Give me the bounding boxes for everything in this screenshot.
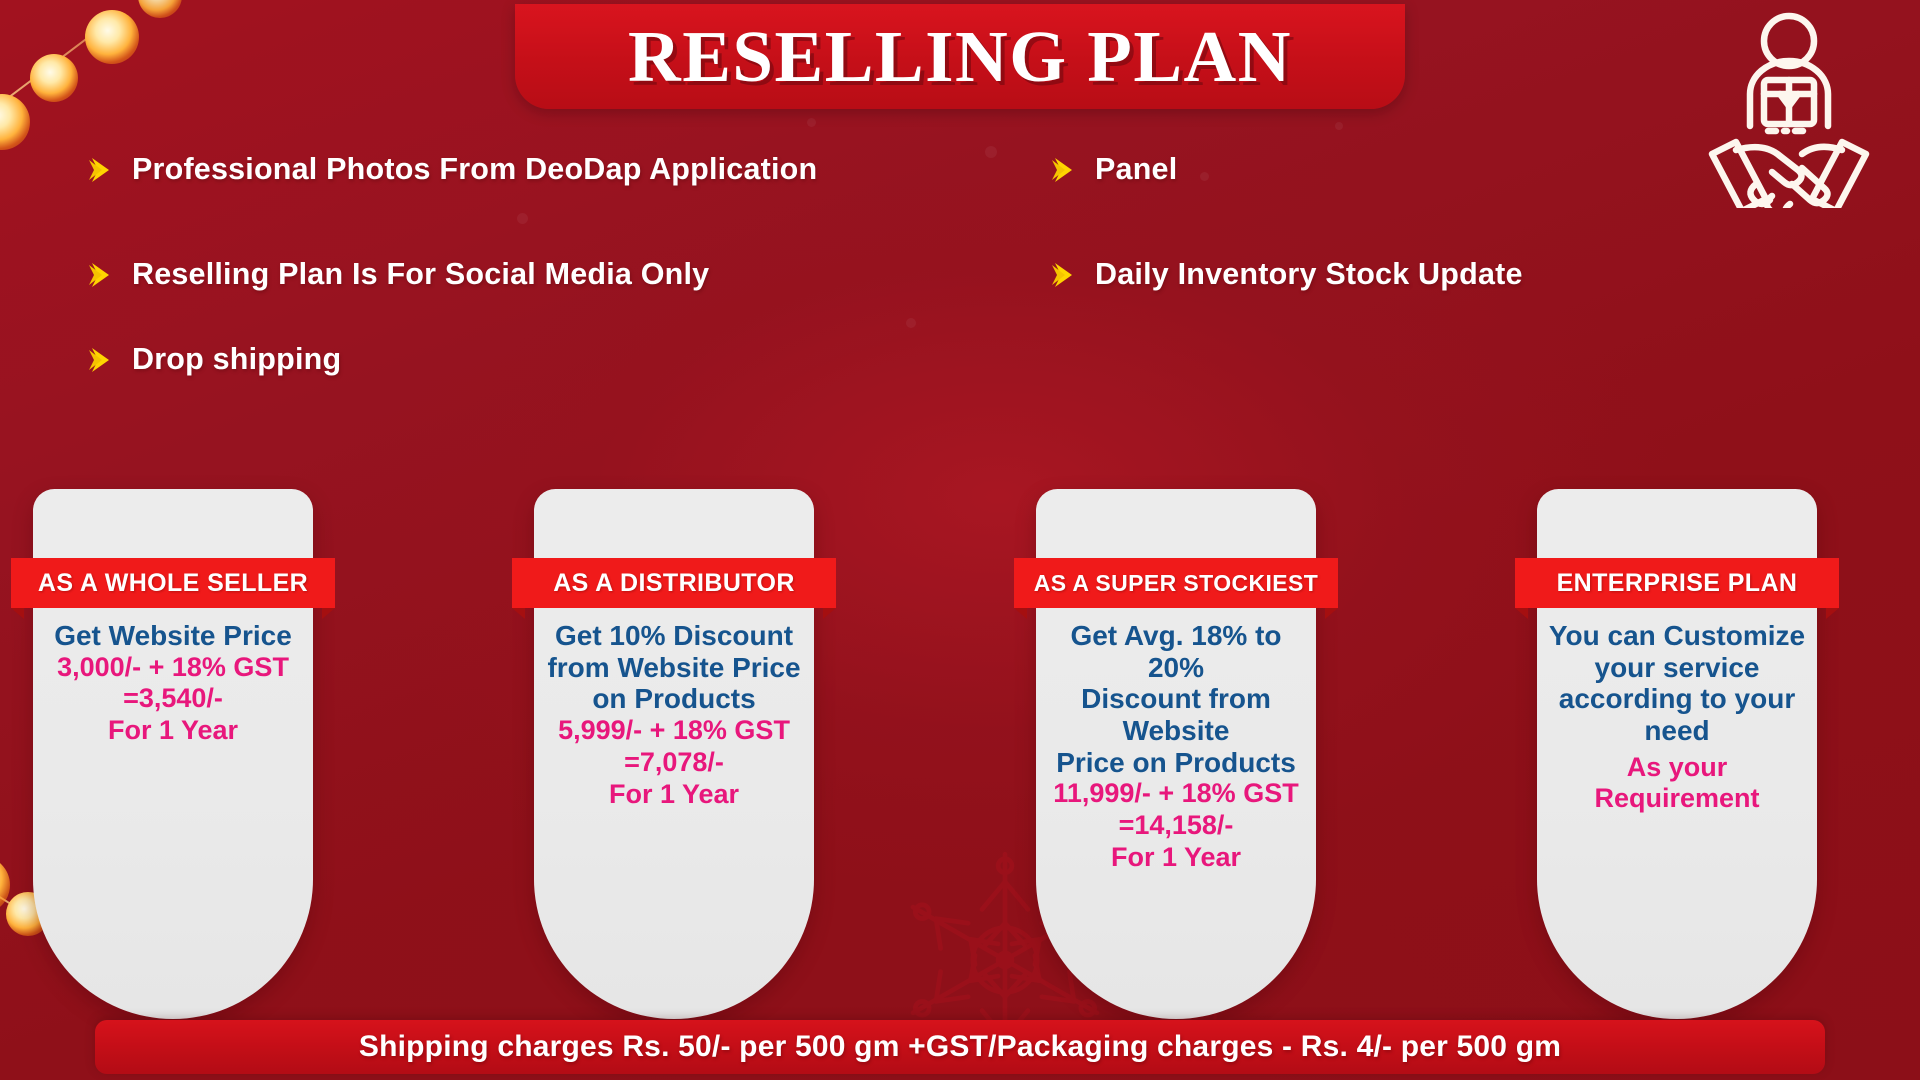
chevron-right-icon <box>1051 260 1081 295</box>
plan-ribbon: ENTERPRISE PLAN <box>1515 558 1839 608</box>
feature-label: Reselling Plan Is For Social Media Only <box>132 255 709 294</box>
bokeh-dot <box>807 118 816 127</box>
page-title: RESELLING PLAN <box>628 20 1292 93</box>
plan-ribbon-label: AS A SUPER STOCKIEST <box>1034 570 1318 597</box>
plan-details: Get 10% Discount from Website Price on P… <box>544 620 804 810</box>
page-title-banner: RESELLING PLAN <box>515 4 1405 109</box>
feature-label: Panel <box>1095 150 1177 189</box>
plan-blue-line: Price on Products <box>1046 747 1306 779</box>
footer-bar: Shipping charges Rs. 50/- per 500 gm +GS… <box>95 1020 1825 1074</box>
plan-cards: AS A WHOLE SELLER Get Website Price 3,00… <box>0 489 1920 1049</box>
plan-blue-line: need <box>1547 715 1807 747</box>
plan-blue-line: Discount from <box>1046 683 1306 715</box>
feature-item: Professional Photos From DeoDap Applicat… <box>88 150 828 190</box>
plan-blue-line: Get 10% Discount <box>544 620 804 652</box>
chevron-right-icon <box>88 260 118 295</box>
feature-item: Daily Inventory Stock Update <box>1051 255 1791 295</box>
plan-ribbon-label: ENTERPRISE PLAN <box>1557 569 1798 598</box>
plan-pink-line: =14,158/- <box>1046 810 1306 842</box>
plan-blue-line: your service <box>1547 652 1807 684</box>
bokeh-dot <box>517 213 528 224</box>
plan-pink-line: 11,999/- + 18% GST <box>1046 778 1306 810</box>
plan-details: Get Website Price 3,000/- + 18% GST =3,5… <box>43 620 303 747</box>
plan-blue-line: according to your <box>1547 683 1807 715</box>
plan-ribbon-label: AS A WHOLE SELLER <box>38 569 308 598</box>
feature-label: Professional Photos From DeoDap Applicat… <box>132 150 817 189</box>
plan-pink-line: For 1 Year <box>544 779 804 811</box>
feature-label: Daily Inventory Stock Update <box>1095 255 1523 294</box>
bokeh-dot <box>906 318 916 328</box>
plan-pink-line: =3,540/- <box>43 683 303 715</box>
feature-item: Reselling Plan Is For Social Media Only <box>88 255 828 295</box>
chevron-right-icon <box>88 345 118 380</box>
bokeh-dot <box>1335 122 1343 130</box>
plan-pink-line: 3,000/- + 18% GST <box>43 652 303 684</box>
plan-blue-line: Website <box>1046 715 1306 747</box>
plan-details: Get Avg. 18% to 20% Discount from Websit… <box>1046 620 1306 874</box>
feature-item: Panel <box>1051 150 1791 190</box>
poster-canvas: RESELLING PLAN <box>0 0 1920 1080</box>
plan-pink-line: Requirement <box>1547 783 1807 815</box>
footer-text: Shipping charges Rs. 50/- per 500 gm +GS… <box>359 1030 1561 1064</box>
bokeh-dot <box>985 146 997 158</box>
plan-pink-line: For 1 Year <box>43 715 303 747</box>
plan-ribbon: AS A SUPER STOCKIEST <box>1014 558 1338 608</box>
plan-blue-line: Get Avg. 18% to 20% <box>1046 620 1306 683</box>
plan-details: You can Customize your service according… <box>1547 620 1807 815</box>
plan-blue-line: Get Website Price <box>43 620 303 652</box>
plan-pink-line: For 1 Year <box>1046 842 1306 874</box>
chevron-right-icon <box>1051 155 1081 190</box>
plan-pink-line: 5,999/- + 18% GST <box>544 715 804 747</box>
string-lights-top-left <box>0 0 210 160</box>
plan-blue-line: You can Customize <box>1547 620 1807 652</box>
plan-pink-line: =7,078/- <box>544 747 804 779</box>
plan-ribbon: AS A DISTRIBUTOR <box>512 558 836 608</box>
plan-ribbon: AS A WHOLE SELLER <box>11 558 335 608</box>
plan-blue-line: from Website Price <box>544 652 804 684</box>
plan-ribbon-label: AS A DISTRIBUTOR <box>553 569 795 598</box>
chevron-right-icon <box>88 155 118 190</box>
plan-blue-line: on Products <box>544 683 804 715</box>
plan-pink-line: As your <box>1547 752 1807 784</box>
feature-label: Drop shipping <box>132 340 341 379</box>
feature-item: Drop shipping <box>88 340 828 380</box>
